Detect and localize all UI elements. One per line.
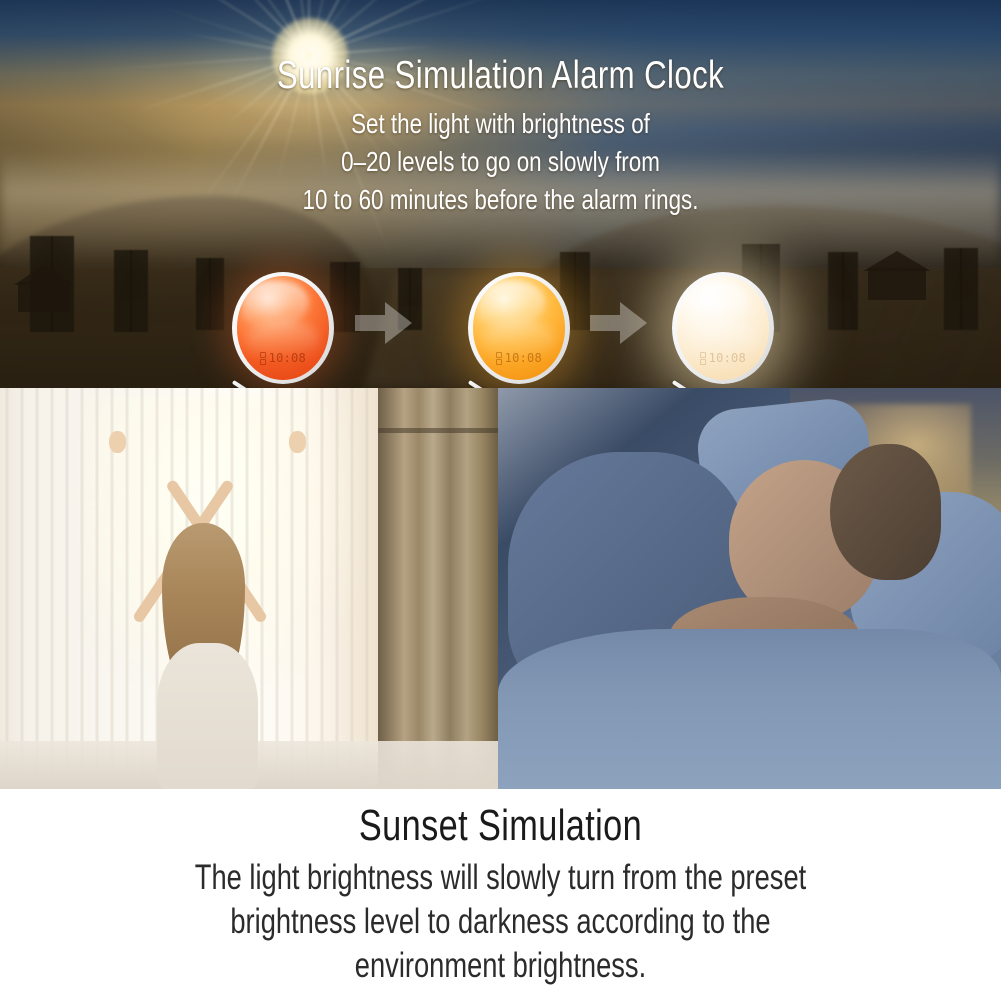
curtain-rod: [378, 428, 498, 433]
sunset-panel: 10:08: [498, 388, 1001, 789]
footer-body: The light brightness will slowly turn fr…: [110, 856, 891, 988]
farmhouse-silhouette: [868, 268, 926, 300]
lamp-clock-display: 10:08: [700, 351, 746, 365]
hero-text-block: Sunrise Simulation Alarm Clock Set the l…: [0, 52, 1001, 219]
woman-stretching: [105, 424, 324, 789]
hero-subtitle-line-2: 0–20 levels to go on slowly from: [100, 143, 901, 181]
farmhouse-silhouette: [18, 282, 70, 312]
lamp-stage-1: 10:08: [232, 272, 334, 384]
sleeping-woman-hair: [830, 444, 941, 580]
page-title: Sunrise Simulation Alarm Clock: [100, 52, 901, 100]
tree-silhouette: [196, 258, 224, 330]
footer-title: Sunset Simulation: [110, 789, 891, 854]
hero-subtitle-line-3: 10 to 60 minutes before the alarm rings.: [100, 181, 901, 219]
hero-subtitle-line-1: Set the light with brightness of: [100, 105, 901, 143]
hero-banner: Sunrise Simulation Alarm Clock Set the l…: [0, 0, 1001, 388]
lamp-highlight: [682, 281, 749, 328]
tree-silhouette: [944, 248, 978, 330]
lamp-face-full-warm-white: 10:08: [677, 276, 770, 379]
tree-silhouette: [114, 250, 148, 332]
lamp-stand: [470, 380, 505, 388]
lamp-stand: [674, 380, 709, 388]
lamp-stage-2: 10:08: [468, 272, 570, 384]
lamp-face-mid-amber: 10:08: [473, 276, 566, 379]
alarm-indicator-icon: [260, 352, 266, 365]
lamp-highlight: [242, 281, 309, 328]
lamp-highlight: [478, 281, 545, 328]
tree-silhouette: [828, 252, 858, 330]
lamp-stand: [234, 380, 269, 388]
duvet: [498, 629, 1001, 789]
clock-time: 10:08: [269, 351, 306, 365]
footer-body-line-3: environment brightness.: [110, 944, 891, 988]
lamp-clock-display: 10:08: [496, 351, 542, 365]
right-arrow-icon: [355, 300, 413, 346]
left-hand: [109, 431, 126, 453]
lamp-stage-3: 10:08: [672, 272, 774, 384]
clock-time: 10:08: [505, 351, 542, 365]
comparison-panels: 10:08: [0, 388, 1001, 789]
sunrise-panel: 10:08: [0, 388, 498, 789]
clock-time: 10:08: [709, 351, 746, 365]
lamp-clock-display: 10:08: [260, 351, 306, 365]
footer-body-line-1: The light brightness will slowly turn fr…: [110, 856, 891, 900]
hero-subtitle: Set the light with brightness of 0–20 le…: [100, 105, 901, 219]
torso: [157, 643, 258, 789]
right-hand: [289, 431, 306, 453]
right-arrow-icon: [590, 300, 648, 346]
product-infographic: Sunrise Simulation Alarm Clock Set the l…: [0, 0, 1001, 1001]
heavy-curtain: [378, 388, 498, 789]
lamp-face-dim-red: 10:08: [237, 276, 330, 379]
footer-text-block: Sunset Simulation The light brightness w…: [0, 789, 1001, 1001]
alarm-indicator-icon: [700, 352, 706, 365]
alarm-indicator-icon: [496, 352, 502, 365]
footer-body-line-2: brightness level to darkness according t…: [110, 900, 891, 944]
